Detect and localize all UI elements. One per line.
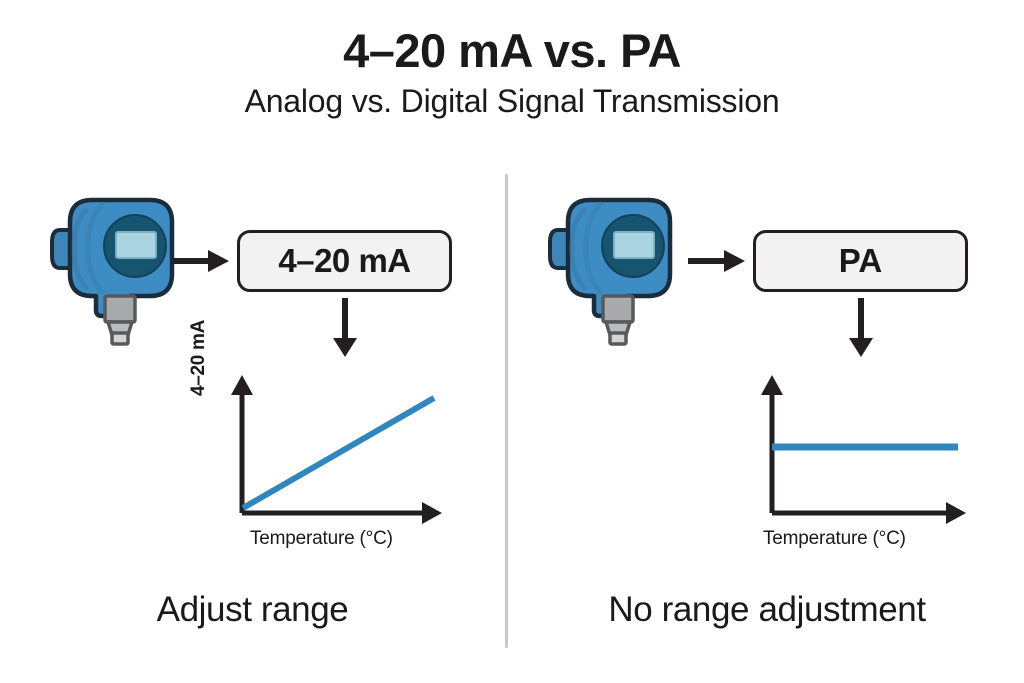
arrow-down-icon: [328, 298, 362, 363]
signal-type-box-4-20-ma[interactable]: 4–20 mA: [237, 230, 452, 292]
arrow-right-icon: [688, 248, 746, 279]
page-subtitle: Analog vs. Digital Signal Transmission: [0, 75, 1024, 119]
chart-x-axis-label-left: Temperature (°C): [250, 528, 393, 550]
chart-y-axis-label: 4–20 mA: [188, 280, 210, 396]
vertical-divider: [505, 174, 508, 648]
chart-4-20-ma: [196, 375, 452, 540]
caption-adjust-range: Adjust range: [0, 590, 505, 630]
signal-type-box-pa[interactable]: PA: [753, 230, 968, 292]
pressure-transmitter-icon: [50, 188, 190, 353]
page-title: 4–20 mA vs. PA: [0, 0, 1024, 75]
arrow-down-icon: [844, 298, 878, 363]
header: 4–20 mA vs. PA Analog vs. Digital Signal…: [0, 0, 1024, 120]
chart-pa: [750, 375, 990, 540]
caption-no-range-adjustment: No range adjustment: [510, 590, 1024, 630]
chart-x-axis-label-right: Temperature (°C): [763, 528, 906, 550]
arrow-right-icon: [172, 248, 230, 279]
pressure-transmitter-icon: [548, 188, 688, 353]
